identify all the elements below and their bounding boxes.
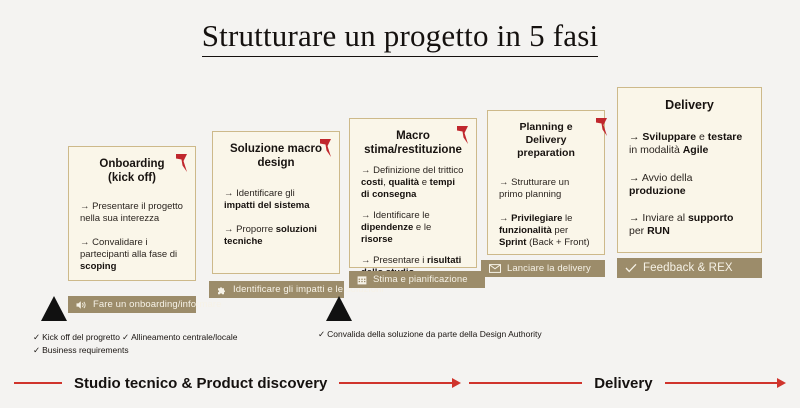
checklist-item-label: Business requirements: [42, 345, 128, 355]
card-body: → Sviluppare e testare in modalità Agile…: [629, 131, 750, 238]
bullet-arrow: →: [224, 224, 234, 235]
bullet-arrow: →: [629, 172, 640, 184]
diagram-canvas: Strutturare un progetto in 5 fasi Onboar…: [0, 0, 800, 408]
chip-label: Lanciare la delivery: [507, 263, 591, 274]
check-glyph: ✓: [318, 329, 325, 339]
calendar-icon: [357, 275, 367, 285]
bullet-arrow: →: [80, 237, 90, 248]
card-title-line2: stima/restituzione: [361, 143, 465, 157]
card-title-line1: Planning e Delivery: [499, 121, 593, 147]
checklist-item: ✓Kick off del progretto: [33, 331, 129, 344]
card-title: Soluzione macro design: [224, 142, 328, 170]
rail-arrow-icon: [777, 378, 786, 388]
card-title-line1: Macro: [361, 129, 465, 143]
checklist-item: ✓Business requirements: [33, 344, 129, 357]
phase-card-macro-stima[interactable]: Macro stima/restituzione → Definizione d…: [349, 118, 477, 268]
milestone-checklist-1-col1: ✓Kick off del progretto ✓Business requir…: [33, 331, 129, 357]
card-bullet: → Inviare al supporto per RUN: [629, 212, 750, 238]
bullet-arrow: →: [361, 165, 371, 176]
speaker-icon: [76, 300, 87, 310]
check-icon: [625, 263, 637, 273]
bullet-arrow: →: [629, 131, 640, 143]
card-bullet: → Sviluppare e testare in modalità Agile: [629, 131, 750, 157]
card-bullet: → Avvio della produzione: [629, 172, 750, 198]
bullet-arrow: →: [629, 212, 640, 224]
bullet-arrow: →: [80, 201, 90, 212]
card-body: → Presentare il progetto nella sua inter…: [80, 201, 184, 273]
card-chip-soluzione-macro-design[interactable]: Identificare gli impatti e le soluzioni: [209, 281, 344, 298]
card-bullet: → Identificare gli impatti del sistema: [224, 188, 328, 212]
phase-card-planning-delivery-prep[interactable]: Planning e Delivery preparation → Strutt…: [487, 110, 605, 255]
rail-line-segment: [665, 382, 778, 385]
bullet-arrow: →: [499, 213, 509, 224]
card-title: Macro stima/restituzione: [361, 129, 465, 157]
card-title-line2: (kick off): [80, 171, 184, 185]
card-bullet: → Identificare le dipendenze e le risors…: [361, 210, 465, 246]
card-bullet: → Strutturare un primo planning: [499, 177, 593, 201]
card-bullet: → Definizione del trittico costi, qualit…: [361, 165, 465, 201]
checklist-item: ✓Allineamento centrale/locale: [122, 331, 237, 344]
rail-line-segment: [14, 382, 62, 385]
card-chip-onboarding[interactable]: Fare un onboarding/informare: [68, 296, 196, 313]
card-bullet: → Presentare il progetto nella sua inter…: [80, 201, 184, 225]
phase-label-2: Delivery: [582, 375, 664, 392]
card-title-line1: Soluzione macro: [224, 142, 328, 156]
phase-rail: Studio tecnico & Product discovery Deliv…: [0, 370, 800, 396]
bullet-arrow: →: [361, 255, 371, 266]
rail-line-segment: [469, 382, 582, 385]
puzzle-icon: [217, 285, 227, 295]
envelope-icon: [489, 264, 501, 273]
milestone-checklist-2: ✓Convalida della soluzione da parte dell…: [318, 328, 542, 341]
page-title: Strutturare un progetto in 5 fasi: [0, 18, 800, 54]
phase-card-delivery[interactable]: Delivery → Sviluppare e testare in modal…: [617, 87, 762, 253]
checklist-item-label: Kick off del progretto: [42, 332, 120, 342]
milestone-marker-2: [326, 296, 352, 321]
checklist-item: ✓Convalida della soluzione da parte dell…: [318, 328, 542, 341]
card-body: → Definizione del trittico costi, qualit…: [361, 165, 465, 279]
card-title-line2: preparation: [499, 147, 593, 160]
phase-card-soluzione-macro-design[interactable]: Soluzione macro design → Identificare gl…: [212, 131, 340, 274]
check-glyph: ✓: [33, 345, 40, 355]
card-body: → Identificare gli impatti del sistema →…: [224, 188, 328, 248]
check-glyph: ✓: [122, 332, 129, 342]
checklist-item-label: Convalida della soluzione da parte della…: [327, 329, 542, 339]
bullet-arrow: →: [224, 188, 234, 199]
checklist-item-label: Allineamento centrale/locale: [131, 332, 237, 342]
card-title-line1: Delivery: [629, 98, 750, 113]
card-body: → Strutturare un primo planning → Privil…: [499, 177, 593, 249]
rail-arrow-icon: [452, 378, 461, 388]
card-title-line2: design: [224, 156, 328, 170]
card-title: Planning e Delivery preparation: [499, 121, 593, 159]
bullet-arrow: →: [361, 210, 371, 221]
bullet-arrow: →: [499, 177, 509, 188]
card-bullet: → Proporre soluzioni tecniche: [224, 224, 328, 248]
phase-card-onboarding[interactable]: Onboarding (kick off) → Presentare il pr…: [68, 146, 196, 281]
rail-line-segment: [339, 382, 452, 385]
chip-label: Feedback & REX: [643, 262, 733, 274]
red-flag-icon: [594, 117, 610, 139]
page-title-text: Strutturare un progetto in 5 fasi: [202, 18, 599, 57]
card-chip-macro-stima[interactable]: Stima e pianificazione: [349, 271, 485, 288]
card-bullet: → Privilegiare le funzionalità per Sprin…: [499, 213, 593, 249]
check-glyph: ✓: [33, 332, 40, 342]
card-title-line1: Onboarding: [80, 157, 184, 171]
chip-label: Fare un onboarding/informare: [93, 299, 222, 310]
card-chip-planning-delivery-prep[interactable]: Lanciare la delivery: [481, 260, 605, 277]
card-title: Onboarding (kick off): [80, 157, 184, 185]
milestone-marker-1: [41, 296, 67, 321]
chip-label: Stima e pianificazione: [373, 274, 468, 285]
card-title: Delivery: [629, 98, 750, 113]
card-chip-delivery[interactable]: Feedback & REX: [617, 258, 762, 278]
milestone-checklist-1-col2: ✓Allineamento centrale/locale: [122, 331, 237, 344]
phase-label-1: Studio tecnico & Product discovery: [62, 375, 339, 392]
card-bullet: → Convalidare i partecipanti alla fase d…: [80, 237, 184, 273]
